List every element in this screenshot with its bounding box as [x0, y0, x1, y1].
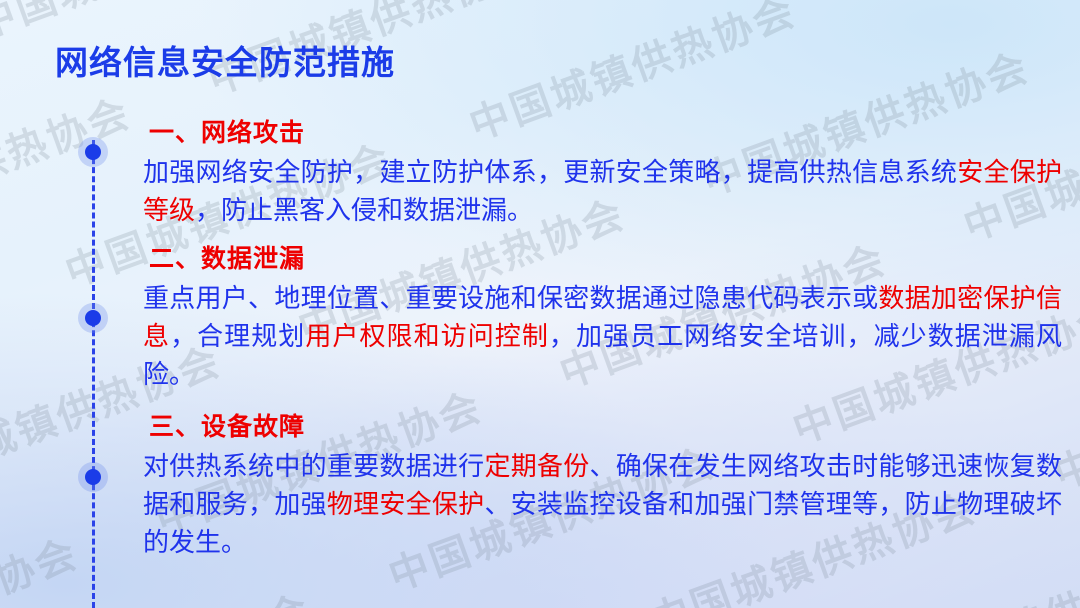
highlighted-text: 用户权限和访问控制	[305, 321, 549, 351]
page-title: 网络信息安全防范措施	[55, 45, 395, 81]
section-heading: 二、数据泄漏	[149, 244, 1062, 275]
timeline-node-2	[78, 303, 108, 333]
section-heading: 三、设备故障	[149, 412, 1062, 443]
body-text: 重点用户、地理位置、重要设施和保密数据通过隐患代码表示或	[143, 283, 878, 313]
slide-content: 网络信息安全防范措施 一、网络攻击 加强网络安全防护，建立防护体系，更新安全策略…	[0, 0, 1080, 608]
timeline-dashed-line	[92, 140, 95, 608]
section-network-attack: 一、网络攻击 加强网络安全防护，建立防护体系，更新安全策略，提高供热信息系统安全…	[143, 118, 1062, 229]
highlighted-text: 定期备份	[484, 451, 589, 481]
timeline	[85, 140, 101, 608]
section-body: 加强网络安全防护，建立防护体系，更新安全策略，提高供热信息系统安全保护等级，防止…	[143, 153, 1062, 229]
timeline-node-3	[78, 462, 108, 492]
section-data-leak: 二、数据泄漏 重点用户、地理位置、重要设施和保密数据通过隐患代码表示或数据加密保…	[143, 244, 1062, 393]
body-text: ，合理规划	[170, 321, 305, 351]
section-heading: 一、网络攻击	[149, 118, 1062, 149]
presentation-slide: 中国城镇供热协会中国城镇供热协会中国城镇供热协会中国城镇供热协会中国城镇供热协会…	[0, 0, 1080, 608]
section-equipment-failure: 三、设备故障 对供热系统中的重要数据进行定期备份、确保在发生网络攻击时能够迅速恢…	[143, 412, 1062, 561]
body-text: 加强网络安全防护，建立防护体系，更新安全策略，提高供热信息系统	[143, 157, 957, 187]
highlighted-text: 物理安全保护	[327, 489, 485, 519]
section-body: 重点用户、地理位置、重要设施和保密数据通过隐患代码表示或数据加密保护信息，合理规…	[143, 279, 1062, 393]
section-body: 对供热系统中的重要数据进行定期备份、确保在发生网络攻击时能够迅速恢复数据和服务，…	[143, 447, 1062, 561]
body-text: 对供热系统中的重要数据进行	[143, 451, 484, 481]
body-text: ，防止黑客入侵和数据泄漏。	[195, 195, 533, 225]
timeline-node-1	[78, 137, 108, 167]
